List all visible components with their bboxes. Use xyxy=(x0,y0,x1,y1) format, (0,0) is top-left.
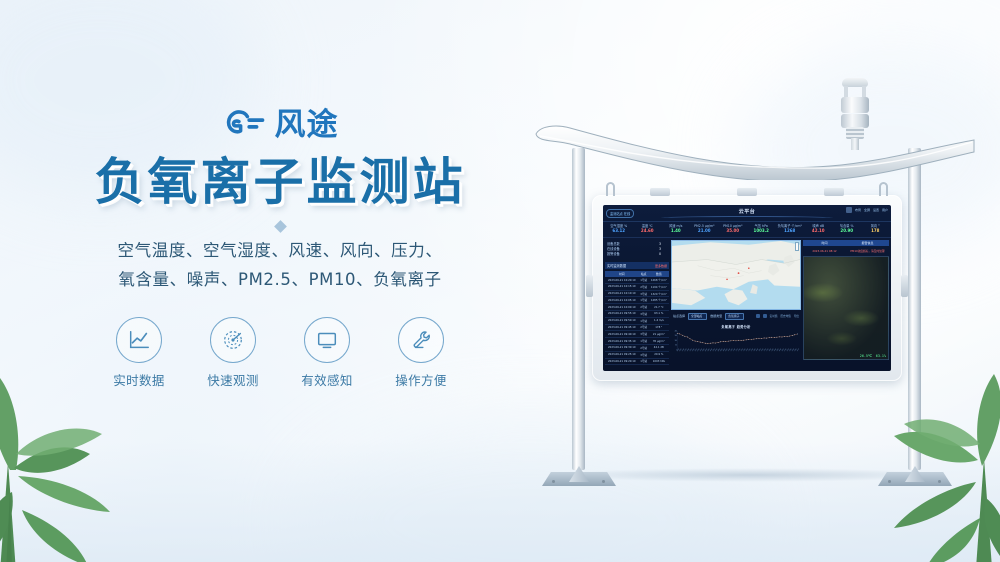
wave-canopy xyxy=(530,122,980,180)
dashboard-body: 设备总数 3 在线设备 3 报警设备 0 xyxy=(603,238,891,362)
toolbar-label[interactable]: 布局 xyxy=(855,208,861,212)
table-cell: 2023-06-21 10:05:10 xyxy=(605,297,639,304)
subtitle-line-1: 空气温度、空气湿度、风速、风向、压力、 xyxy=(118,237,443,266)
base-plate-right xyxy=(878,466,952,486)
camera-temp: 26.5℃ xyxy=(860,354,872,358)
map-filter-label-right: 数据类型 xyxy=(710,314,722,318)
base-bolt xyxy=(602,480,605,483)
feature-label: 快速观测 xyxy=(207,370,259,389)
metric-value: 24.60 xyxy=(634,228,662,234)
table-cell: 21.7 ℃ xyxy=(649,304,669,311)
table-cell: 2023-06-21 10:10:10 xyxy=(605,290,639,297)
table-cell: 2023-06-21 09:55:10 xyxy=(605,311,639,318)
metric-value: 63.12 xyxy=(605,228,633,234)
alarm-table-header: 时间 报警信息 xyxy=(803,240,889,246)
table-cell: 3号站 xyxy=(639,311,649,318)
metric-value: 35.00 xyxy=(719,228,747,234)
left-panel: 设备总数 3 在线设备 3 报警设备 0 xyxy=(605,240,669,360)
radar-scan-icon xyxy=(210,317,256,363)
table-row[interactable]: 2023-06-21 09:40:103号站21 μg/m³ xyxy=(605,331,669,338)
feature-label: 有效感知 xyxy=(301,370,353,389)
metric-card: 氧含量 % 20.90 xyxy=(833,224,861,234)
table-cell: 2023-06-21 10:15:10 xyxy=(605,283,639,290)
table-row[interactable]: 2023-06-21 09:20:101号站1003 hPa xyxy=(605,358,669,365)
feature-fast-observation[interactable]: 快速观测 xyxy=(197,317,269,389)
table-more-link[interactable]: 更多数据 xyxy=(655,264,667,268)
table-cell: 1号站 xyxy=(639,358,649,365)
hanger-eyelet xyxy=(606,182,615,196)
base-bolt xyxy=(938,480,941,483)
view-toggle-icon[interactable] xyxy=(756,314,760,318)
svg-text:2000: 2000 xyxy=(675,330,677,332)
svg-text:1500: 1500 xyxy=(675,335,677,337)
table-cell: 35 μg/m³ xyxy=(649,338,669,345)
alarm-row: 2023-06-21 08:12 PM10浓度超标，请及时处理 xyxy=(803,248,889,254)
metric-value: 1.40 xyxy=(662,228,690,234)
device-stats: 设备总数 3 在线设备 3 报警设备 0 xyxy=(605,240,669,260)
datatype-select[interactable]: 负氧离子 xyxy=(725,313,744,320)
side-tab xyxy=(901,275,908,297)
sensor-body-lower xyxy=(841,114,869,128)
sensor-stem xyxy=(851,138,859,150)
layout-icon[interactable] xyxy=(846,207,852,213)
table-title: 实时监测数据 xyxy=(607,263,626,268)
base-bolt xyxy=(552,480,555,483)
svg-text:1000: 1000 xyxy=(675,339,677,341)
table-row[interactable]: 2023-06-21 09:30:102号站42.1 dB xyxy=(605,344,669,351)
map-filter-label-left: 站点选择 xyxy=(673,314,685,318)
table-row[interactable]: 2023-06-21 09:55:103号站63.1 % xyxy=(605,311,669,318)
metric-value: 1268 xyxy=(776,228,804,234)
column-header: 时间 xyxy=(803,240,846,246)
alarm-time: 2023-06-21 08:12 xyxy=(803,248,846,254)
table-cell: 20.9 % xyxy=(649,351,669,358)
table-cell: 2023-06-21 09:45:10 xyxy=(605,324,639,331)
feature-label: 操作方便 xyxy=(395,370,447,389)
table-cell: 2023-06-21 09:25:10 xyxy=(605,351,639,358)
table-row[interactable]: 2023-06-21 09:25:103号站20.9 % xyxy=(605,351,669,358)
camera-feed[interactable]: 26.5℃ 63.1% xyxy=(803,256,889,360)
sensor-body-upper xyxy=(841,97,869,113)
station-status-pill[interactable]: 监测站点 在线 xyxy=(606,209,634,218)
table-cell: 42.1 dB xyxy=(649,344,669,351)
legend-entry: 历史均值 xyxy=(780,314,790,318)
stat-label: 报警设备 xyxy=(607,252,620,257)
export-button[interactable]: 导出 xyxy=(794,314,799,318)
table-cell: 2023-06-21 09:50:10 xyxy=(605,317,639,324)
poster-canvas: 风途 负氧离子监测站 空气温度、空气湿度、风速、风向、压力、 氧含量、噪声、PM… xyxy=(0,0,1000,562)
table-cell: 1285 个/cm³ xyxy=(649,297,669,304)
dashboard-header: 监测站点 在线 云平台 布局 全屏 设置 用户 xyxy=(603,205,891,222)
table-cell: 1320 个/cm³ xyxy=(649,290,669,297)
metric-card: 负氧离子 个/cm³ 1268 xyxy=(776,224,804,234)
side-tab xyxy=(586,275,593,297)
metric-strip: 空气湿度 % 63.12 温度 ℃ 24.60 风速 m/s 1.40 PM2.… xyxy=(603,222,891,238)
hanger-eyelet xyxy=(879,182,888,196)
metric-card: 温度 ℃ 24.60 xyxy=(634,224,662,234)
dashboard-title: 云平台 xyxy=(739,208,756,215)
grid-toggle-icon[interactable] xyxy=(763,314,767,318)
table-cell: 2023-06-21 09:40:10 xyxy=(605,331,639,338)
table-cell: 21 μg/m³ xyxy=(649,331,669,338)
support-post-right xyxy=(908,148,921,470)
map-toolbar: 站点选择 全部站点 数据类型 负氧离子 实时值 历史均值 导出 xyxy=(671,312,801,321)
toolbar-label[interactable]: 全屏 xyxy=(864,208,870,212)
mount-bracket xyxy=(737,188,757,196)
column-header: 报警信息 xyxy=(846,240,889,246)
toolbar-label[interactable]: 用户 xyxy=(882,208,888,212)
monitor-icon xyxy=(304,317,350,363)
right-panel: 时间 报警信息 2023-06-21 08:12 PM10浓度超标，请及时处理 … xyxy=(803,240,889,360)
metric-card: PM10 μg/m³ 35.00 xyxy=(719,224,747,234)
camera-foliage xyxy=(804,257,888,359)
metric-card: PM2.5 μg/m³ 21.00 xyxy=(691,224,719,234)
table-cell: 1号站 xyxy=(639,338,649,345)
table-cell: 2023-06-21 10:00:10 xyxy=(605,304,639,311)
metric-card: 空气湿度 % 63.12 xyxy=(605,224,633,234)
realtime-data-table: 时间 站点 数值 2023-06-21 10:20:101号站1268 个/cm… xyxy=(605,271,669,365)
svg-text:00:00: 00:00 xyxy=(677,347,680,352)
feature-label: 实时数据 xyxy=(113,370,165,389)
marketing-copy-column: 风途 负氧离子监测站 空气温度、空气湿度、风速、风向、压力、 氧含量、噪声、PM… xyxy=(0,108,560,389)
alarm-message: PM10浓度超标，请及时处理 xyxy=(846,248,889,254)
table-cell: 63.1 % xyxy=(649,311,669,318)
table-cell: 3号站 xyxy=(639,351,649,358)
brand-name: 风途 xyxy=(275,110,339,141)
camera-readout: 26.5℃ 63.1% xyxy=(860,354,886,358)
table-cell: 2号站 xyxy=(639,344,649,351)
camera-humidity: 63.1% xyxy=(876,354,886,358)
mount-bracket xyxy=(824,188,844,196)
table-cell: 1.4 m/s xyxy=(649,317,669,324)
support-post-left xyxy=(572,148,585,470)
monitoring-station-device: 监测站点 在线 云平台 布局 全屏 设置 用户 空气湿度 % 63.12 xyxy=(520,60,990,530)
table-row[interactable]: 2023-06-21 09:45:102号站178 ° xyxy=(605,324,669,331)
metric-card: 风速 m/s 1.40 xyxy=(662,224,690,234)
table-cell: 3号站 xyxy=(639,331,649,338)
table-cell: 178 ° xyxy=(649,324,669,331)
display-enclosure: 监测站点 在线 云平台 布局 全屏 设置 用户 空气湿度 % 63.12 xyxy=(592,195,902,381)
feature-effective-sensing[interactable]: 有效感知 xyxy=(291,317,363,389)
table-row[interactable]: 2023-06-21 10:05:101号站1285 个/cm³ xyxy=(605,297,669,304)
page-title: 负氧离子监测站 xyxy=(95,154,466,210)
table-row[interactable]: 2023-06-21 10:10:103号站1320 个/cm³ xyxy=(605,290,669,297)
feature-easy-operation[interactable]: 操作方便 xyxy=(385,317,457,389)
metric-card: 气压 hPa 1003.2 xyxy=(748,224,776,234)
table-cell: 2023-06-21 09:20:10 xyxy=(605,358,639,365)
mount-bracket xyxy=(650,188,670,196)
center-panel: 站点选择 全部站点 数据类型 负氧离子 实时值 历史均值 导出 xyxy=(671,240,801,360)
toolbar-label[interactable]: 设置 xyxy=(873,208,879,212)
table-cell: 3号站 xyxy=(639,290,649,297)
subtitle-line-2: 氧含量、噪声、PM2.5、PM10、负氧离子 xyxy=(118,266,443,295)
metric-card: 风向 ° 178 xyxy=(862,224,890,234)
data-table-header-bar: 实时监测数据 更多数据 xyxy=(605,262,669,269)
header-wave-decoration xyxy=(661,216,834,220)
base-bolt xyxy=(888,480,891,483)
table-row[interactable]: 2023-06-21 09:35:101号站35 μg/m³ xyxy=(605,338,669,345)
trend-chart: 负氧离子 趋势分析 00:0000:3001:0001:3002:0002:30… xyxy=(671,323,801,360)
divider-diamond xyxy=(274,220,287,233)
stat-row: 报警设备 0 xyxy=(607,252,667,257)
feature-badges: 实时数据 快速观测 xyxy=(103,317,457,389)
metric-card: 噪声 dB 42.10 xyxy=(805,224,833,234)
table-cell: 1号站 xyxy=(639,297,649,304)
table-body: 2023-06-21 10:20:101号站1268 个/cm³2023-06-… xyxy=(605,277,669,365)
metric-value: 42.10 xyxy=(805,228,833,234)
table-cell: 1194 个/cm³ xyxy=(649,283,669,290)
svg-text:500: 500 xyxy=(675,344,677,346)
base-plate-left xyxy=(542,466,616,486)
stat-value: 0 xyxy=(659,252,661,257)
table-cell: 2号站 xyxy=(639,283,649,290)
zoom-control[interactable] xyxy=(795,242,799,251)
dashboard-screen: 监测站点 在线 云平台 布局 全屏 设置 用户 空气湿度 % 63.12 xyxy=(603,205,891,371)
dashboard-toolbar[interactable]: 布局 全屏 设置 用户 xyxy=(846,207,888,213)
table-row[interactable]: 2023-06-21 09:50:101号站1.4 m/s xyxy=(605,317,669,324)
legend-entry: 实时值 xyxy=(770,314,778,318)
station-map[interactable] xyxy=(671,240,801,310)
metric-value: 20.90 xyxy=(833,228,861,234)
wrench-icon xyxy=(398,317,444,363)
metric-value: 178 xyxy=(862,228,890,234)
station-select[interactable]: 全部站点 xyxy=(688,313,707,320)
table-cell: 2023-06-21 09:30:10 xyxy=(605,344,639,351)
feature-list-text: 空气温度、空气湿度、风速、风向、压力、 氧含量、噪声、PM2.5、PM10、负氧… xyxy=(118,237,443,295)
line-chart-icon xyxy=(116,317,162,363)
metric-value: 21.00 xyxy=(691,228,719,234)
wind-cloud-logo-icon xyxy=(222,108,266,142)
ultrasonic-weather-sensor-icon xyxy=(838,78,872,148)
feature-realtime-data[interactable]: 实时数据 xyxy=(103,317,175,389)
table-row[interactable]: 2023-06-21 10:00:102号站21.7 ℃ xyxy=(605,304,669,311)
table-cell: 1003 hPa xyxy=(649,358,669,365)
table-cell: 1号站 xyxy=(639,317,649,324)
table-cell: 2号站 xyxy=(639,304,649,311)
table-row[interactable]: 2023-06-21 10:15:102号站1194 个/cm³ xyxy=(605,283,669,290)
brand-lockup: 风途 xyxy=(222,108,339,142)
table-cell: 2号站 xyxy=(639,324,649,331)
metric-value: 1003.2 xyxy=(748,228,776,234)
table-cell: 2023-06-21 09:35:10 xyxy=(605,338,639,345)
